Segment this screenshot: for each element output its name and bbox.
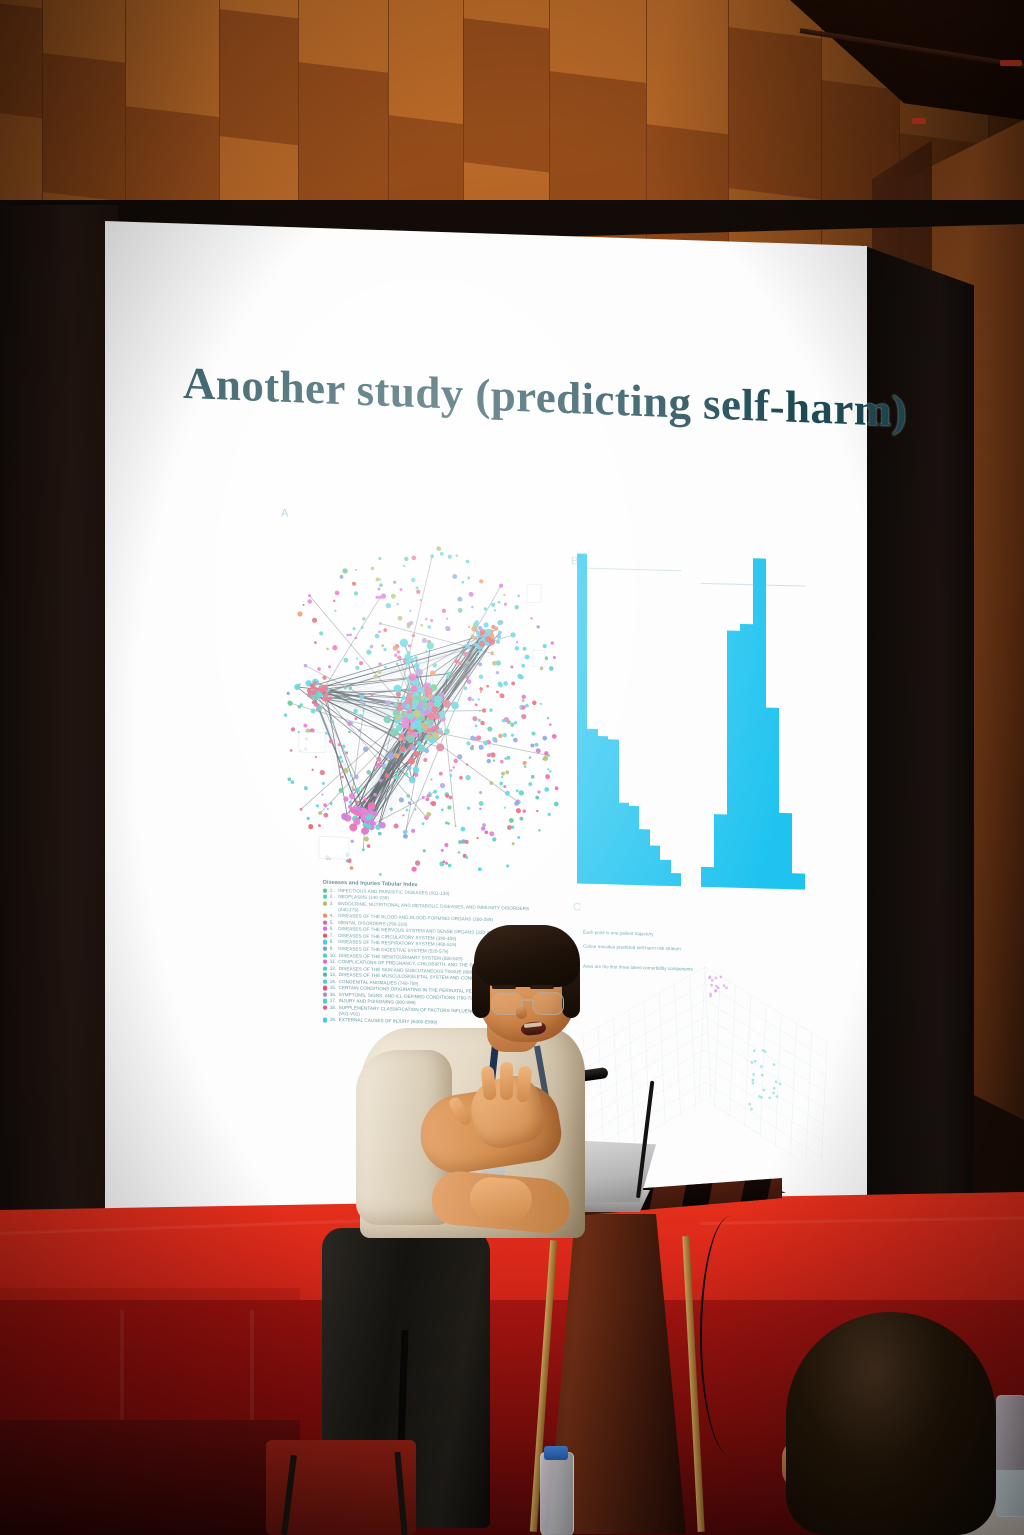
legend-item-number: 10. [330,952,336,958]
water-bottle[interactable] [540,1452,574,1535]
legend-color-swatch [323,953,327,957]
microphone-cable [700,1216,762,1456]
legend-item-number: 15. [330,985,336,991]
legend-color-swatch [323,901,327,905]
network-graph-figure [281,535,561,883]
legend-color-swatch [323,1018,327,1022]
histogram-figure [573,553,813,889]
histogram-degree-distribution [577,553,681,886]
histogram-bar [727,630,740,888]
legend-color-swatch [323,920,327,924]
legend-item-number: 18. [330,1005,336,1011]
legend-color-swatch [323,914,327,918]
pipe-marker-red-2 [912,118,926,124]
histogram-bar [608,739,618,884]
slide-title: Another study (predicting self-harm) [183,357,823,434]
histogram-bar [660,859,670,886]
legend-item-number: 9. [330,946,336,952]
histogram-bar [598,736,608,885]
legend-color-swatch [323,973,327,977]
legend-color-swatch [323,895,327,899]
legend-item-number: 8. [330,939,336,945]
photo-scene: Another study (predicting self-harm) A B… [0,0,1024,1535]
water-bottle-audience[interactable] [996,1395,1024,1517]
legend-color-swatch [323,960,327,964]
histogram-bar [701,867,714,887]
histogram-bar [753,558,766,888]
presenter-nose [516,1006,527,1019]
histogram-bar [740,624,753,888]
legend-item-number: 17. [330,998,336,1004]
legend-item-number: 11. [330,959,336,965]
histogram-bar [714,815,727,888]
presenter-brow-right [530,985,554,989]
legend-color-swatch [323,940,327,944]
presenter-hand-resting [469,1176,534,1222]
histogram-bar [650,846,660,886]
presenter-hair [474,925,580,987]
legend-item-number: 6. [330,926,336,932]
histogram-bar [792,873,805,890]
legend-color-swatch [323,927,327,931]
panel-label-c: C [573,901,581,913]
histogram-bar [639,829,649,885]
legend-item-number: 3. [330,900,336,906]
histogram-bar [629,806,639,885]
legend-item-number: 7. [330,933,336,939]
legend-color-swatch [323,1006,327,1010]
pipe-marker-red [1000,60,1022,66]
legend-color-swatch [323,986,327,990]
legend-color-swatch [323,992,327,996]
legend-item-number: 1. [330,887,336,893]
histogram-bar [587,729,597,884]
audience-member-head [786,1312,996,1535]
legend-item-number: 14. [330,979,336,985]
legend-color-swatch [323,888,327,892]
histogram-bar [619,802,629,885]
histogram-bar [779,813,792,889]
histogram-bar [766,707,779,889]
panel-label-a: A [281,507,288,519]
legend-item-number: 13. [330,972,336,978]
glasses-bridge [521,999,532,1001]
histogram-bar [671,873,681,886]
histogram-score-distribution [701,557,805,890]
legend-item-number: 2. [330,894,336,900]
legend-color-swatch [323,947,327,951]
stage-front-curtain [0,1420,300,1535]
backdrop-left [0,205,118,1265]
legend-item-number: 5. [330,919,336,925]
legend-item-number: 4. [330,913,336,919]
histogram-bar [577,553,587,883]
presenter-finger-2 [500,1062,513,1100]
presenter-brow-left [492,985,516,989]
scatter3d-figure [575,923,835,1160]
legend-item-number: 16. [330,992,336,998]
water-bottle-cap [544,1446,568,1460]
legend-color-swatch [323,979,327,983]
glasses-lens-right [532,992,564,1015]
legend-color-swatch [323,933,327,937]
legend-item-number: 19. [330,1017,336,1023]
legend-color-swatch [323,999,327,1003]
legend-color-swatch [323,966,327,970]
legend-item-number: 12. [330,965,336,971]
